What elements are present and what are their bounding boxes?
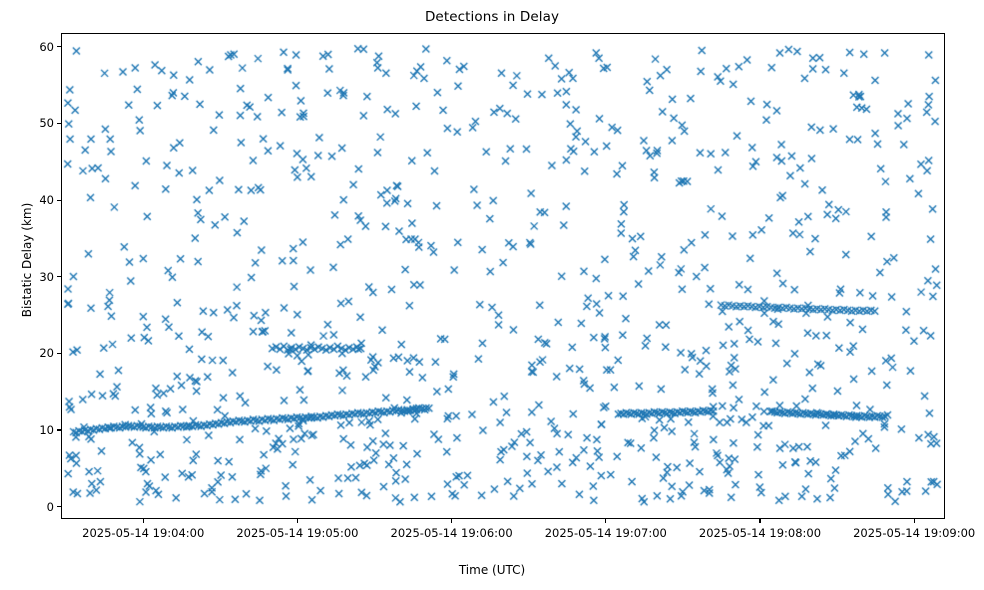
- x-tick-label: 2025-05-14 19:07:00: [545, 525, 667, 541]
- y-tick-label: 30: [39, 269, 54, 285]
- chart-title: Detections in Delay: [0, 9, 984, 25]
- y-tick-label: 40: [39, 192, 54, 208]
- x-tick-mark: [605, 519, 606, 523]
- x-tick-label: 2025-05-14 19:08:00: [699, 525, 821, 541]
- y-tick-label: 60: [39, 39, 54, 55]
- y-tick-label: 50: [39, 115, 54, 131]
- x-tick-mark: [451, 519, 452, 523]
- plot-axes-area: [61, 33, 945, 519]
- x-tick-mark: [297, 519, 298, 523]
- x-tick-label: 2025-05-14 19:09:00: [853, 525, 975, 541]
- figure-canvas: Detections in Delay Bistatic Delay (km) …: [0, 0, 984, 590]
- y-axis-label: Bistatic Delay (km): [20, 50, 34, 470]
- x-tick-label: 2025-05-14 19:04:00: [82, 525, 204, 541]
- y-tick-label: 0: [47, 499, 54, 515]
- x-tick-label: 2025-05-14 19:06:00: [391, 525, 513, 541]
- scatter-plot-canvas: [62, 34, 944, 518]
- x-tick-mark: [914, 519, 915, 523]
- x-tick-mark: [759, 519, 760, 523]
- x-tick-mark: [143, 519, 144, 523]
- y-tick-label: 10: [39, 422, 54, 438]
- x-tick-label: 2025-05-14 19:05:00: [236, 525, 358, 541]
- y-tick-label: 20: [39, 345, 54, 361]
- x-axis-label: Time (UTC): [0, 563, 984, 577]
- y-axis: Bistatic Delay (km) 0102030405060: [0, 0, 61, 590]
